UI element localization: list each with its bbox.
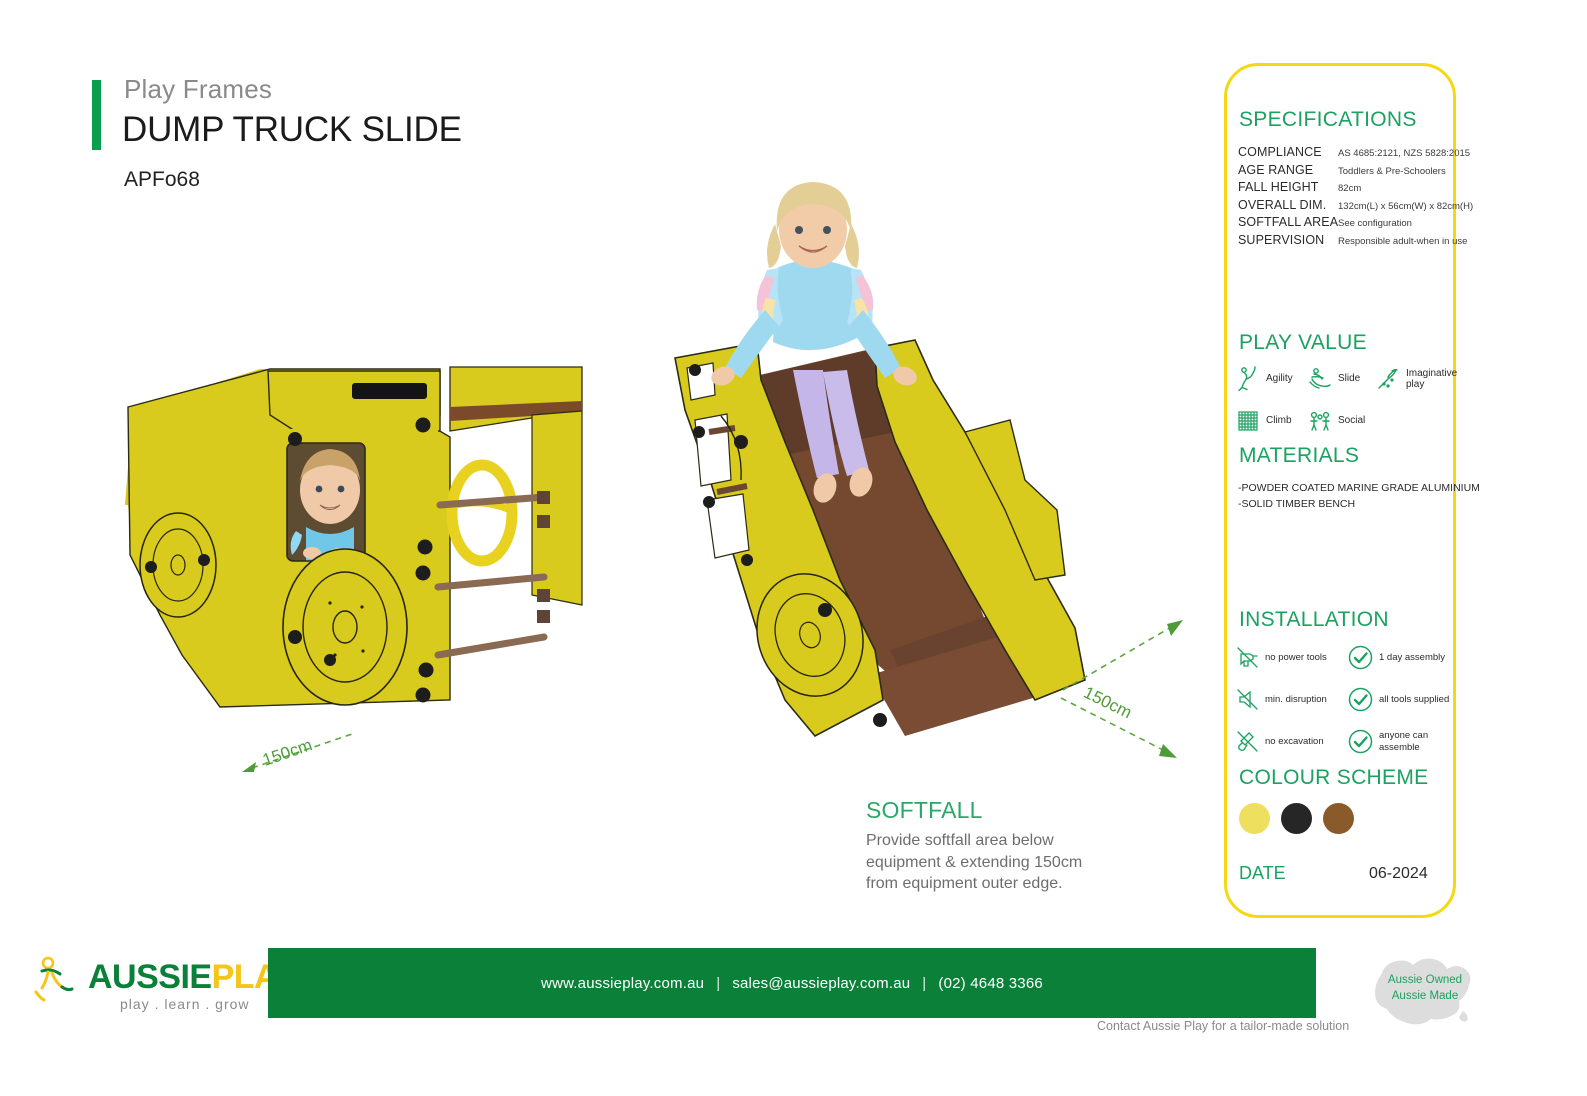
table-row: COMPLIANCEAS 4685:2121, NZS 5828:2015 <box>1238 145 1473 163</box>
dimension-arrows-right <box>1035 612 1185 762</box>
table-row: AGE RANGEToddlers & Pre-Schoolers <box>1238 163 1473 181</box>
installation-label: anyone can assemble <box>1379 730 1459 753</box>
owned-line-1: Aussie Owned <box>1373 973 1477 989</box>
table-row: SUPERVISIONResponsible adult-when in use <box>1238 233 1473 251</box>
owned-line-2: Aussie Made <box>1373 989 1477 1005</box>
no-excavation-icon <box>1235 729 1260 754</box>
header-accent-bar <box>92 80 101 150</box>
installation-label: no power tools <box>1265 652 1327 663</box>
table-row: OVERALL DIM.132cm(L) x 56cm(W) x 82cm(H) <box>1238 198 1473 216</box>
spec-key: OVERALL DIM. <box>1238 198 1338 212</box>
social-icon <box>1307 408 1333 434</box>
logo-tagline: play . learn . grow <box>120 996 250 1012</box>
swatch-brown <box>1323 803 1354 834</box>
play-value-label: Imaginative play <box>1406 368 1457 391</box>
footer-email[interactable]: sales@aussieplay.com.au <box>732 975 910 992</box>
spec-key: SUPERVISION <box>1238 233 1338 247</box>
play-value-item-climb: Climb <box>1235 408 1307 434</box>
agility-icon <box>1235 366 1261 392</box>
play-value-row: Agility Slide <box>1235 366 1457 392</box>
materials-list: -POWDER COATED MARINE GRADE ALUMINIUM -S… <box>1238 480 1456 513</box>
running-figure-icon <box>28 954 84 1006</box>
installation-item-min-disruption: min. disruption <box>1235 686 1347 713</box>
swatch-black <box>1281 803 1312 834</box>
installation-label: 1 day assembly <box>1379 652 1445 663</box>
product-photo-front <box>120 355 600 765</box>
date-value: 06-2024 <box>1369 865 1428 883</box>
softfall-section: SOFTFALL Provide softfall area below equ… <box>866 797 1096 895</box>
play-value-label: Agility <box>1266 373 1293 385</box>
installation-item-anyone-can-assemble: anyone can assemble <box>1347 728 1459 755</box>
check-icon <box>1347 644 1374 671</box>
material-line: -SOLID TIMBER BENCH <box>1238 496 1456 512</box>
footer-separator: | <box>716 975 720 992</box>
installation-row: min. disruption all tools supplied <box>1235 686 1459 713</box>
installation-row: no power tools 1 day assembly <box>1235 644 1459 671</box>
product-code: APFo68 <box>124 168 200 192</box>
spec-key: COMPLIANCE <box>1238 145 1338 159</box>
installation-heading: INSTALLATION <box>1239 608 1389 632</box>
imaginative-play-icon <box>1375 366 1401 392</box>
installation-row: no excavation anyone can assemble <box>1235 728 1459 755</box>
front-wheel <box>283 549 407 705</box>
logo-aussie-text: AUSSIE <box>88 958 212 996</box>
footer-phone[interactable]: (02) 4648 3366 <box>938 975 1043 992</box>
check-icon <box>1347 728 1374 755</box>
climb-icon <box>1235 408 1261 434</box>
spec-value: AS 4685:2121, NZS 5828:2015 <box>1338 145 1470 159</box>
footer-website[interactable]: www.aussieplay.com.au <box>541 975 704 992</box>
play-value-item-imaginative: Imaginative play <box>1375 366 1455 392</box>
colour-scheme-heading: COLOUR SCHEME <box>1239 766 1428 790</box>
spec-key: AGE RANGE <box>1238 163 1338 177</box>
company-logo: AUSSIEPLAY play . learn . grow <box>28 952 263 1018</box>
play-value-item-social: Social <box>1307 408 1387 434</box>
specifications-table: COMPLIANCEAS 4685:2121, NZS 5828:2015 AG… <box>1238 145 1473 250</box>
check-icon <box>1347 686 1374 713</box>
play-value-item-slide: Slide <box>1307 366 1375 392</box>
logo-wordmark: AUSSIEPLAY <box>88 958 297 997</box>
installation-grid: no power tools 1 day assembly <box>1235 644 1459 770</box>
table-row: SOFTFALL AREASee configuration <box>1238 215 1473 233</box>
spec-value: 132cm(L) x 56cm(W) x 82cm(H) <box>1338 198 1473 212</box>
specifications-heading: SPECIFICATIONS <box>1239 108 1417 132</box>
spec-key: SOFTFALL AREA <box>1238 215 1338 229</box>
materials-heading: MATERIALS <box>1239 444 1359 468</box>
softfall-body: Provide softfall area below equipment & … <box>866 830 1096 895</box>
footer-contact-row: www.aussieplay.com.au | sales@aussieplay… <box>268 948 1316 1018</box>
slide-icon <box>1307 366 1333 392</box>
child-in-window <box>287 443 365 563</box>
swatch-yellow <box>1239 803 1270 834</box>
installation-label: min. disruption <box>1265 694 1327 705</box>
spec-value: Responsible adult-when in use <box>1338 233 1467 247</box>
play-value-item-agility: Agility <box>1235 366 1307 392</box>
min-disruption-icon <box>1235 687 1260 712</box>
tailor-made-note: Contact Aussie Play for a tailor-made so… <box>1097 1019 1349 1033</box>
material-line: -POWDER COATED MARINE GRADE ALUMINIUM <box>1238 480 1456 496</box>
spec-value: Toddlers & Pre-Schoolers <box>1338 163 1446 177</box>
installation-item-1-day-assembly: 1 day assembly <box>1347 644 1459 671</box>
installation-item-all-tools-supplied: all tools supplied <box>1347 686 1459 713</box>
aussie-owned-badge: Aussie Owned Aussie Made <box>1345 945 1505 1030</box>
colour-swatches <box>1239 803 1354 834</box>
play-value-row: Climb Social <box>1235 408 1457 434</box>
page-title: DUMP TRUCK SLIDE <box>122 110 462 150</box>
softfall-heading: SOFTFALL <box>866 797 1096 824</box>
footer-contact-bar: www.aussieplay.com.au | sales@aussieplay… <box>268 948 1316 1018</box>
installation-label: no excavation <box>1265 736 1324 747</box>
spec-value: 82cm <box>1338 180 1361 194</box>
spec-value: See configuration <box>1338 215 1412 229</box>
steering-wheel <box>452 465 512 561</box>
spec-key: FALL HEIGHT <box>1238 180 1338 194</box>
product-photo-slide <box>665 180 1095 765</box>
play-value-heading: PLAY VALUE <box>1239 331 1367 355</box>
date-row: DATE 06-2024 <box>1239 863 1447 884</box>
installation-item-no-excavation: no excavation <box>1235 728 1347 755</box>
play-value-grid: Agility Slide <box>1235 366 1457 450</box>
footer-separator: | <box>922 975 926 992</box>
table-row: FALL HEIGHT82cm <box>1238 180 1473 198</box>
play-value-label: Slide <box>1338 373 1360 385</box>
installation-label: all tools supplied <box>1379 694 1449 705</box>
play-value-label: Social <box>1338 415 1365 427</box>
cab-slot <box>352 383 427 399</box>
play-value-label: Climb <box>1266 415 1292 427</box>
product-category: Play Frames <box>124 74 272 105</box>
aussie-owned-text: Aussie Owned Aussie Made <box>1373 973 1477 1004</box>
date-label: DATE <box>1239 863 1286 884</box>
installation-item-no-power-tools: no power tools <box>1235 644 1347 671</box>
specification-panel: SPECIFICATIONS COMPLIANCEAS 4685:2121, N… <box>1224 63 1456 918</box>
no-power-tools-icon <box>1235 645 1260 670</box>
